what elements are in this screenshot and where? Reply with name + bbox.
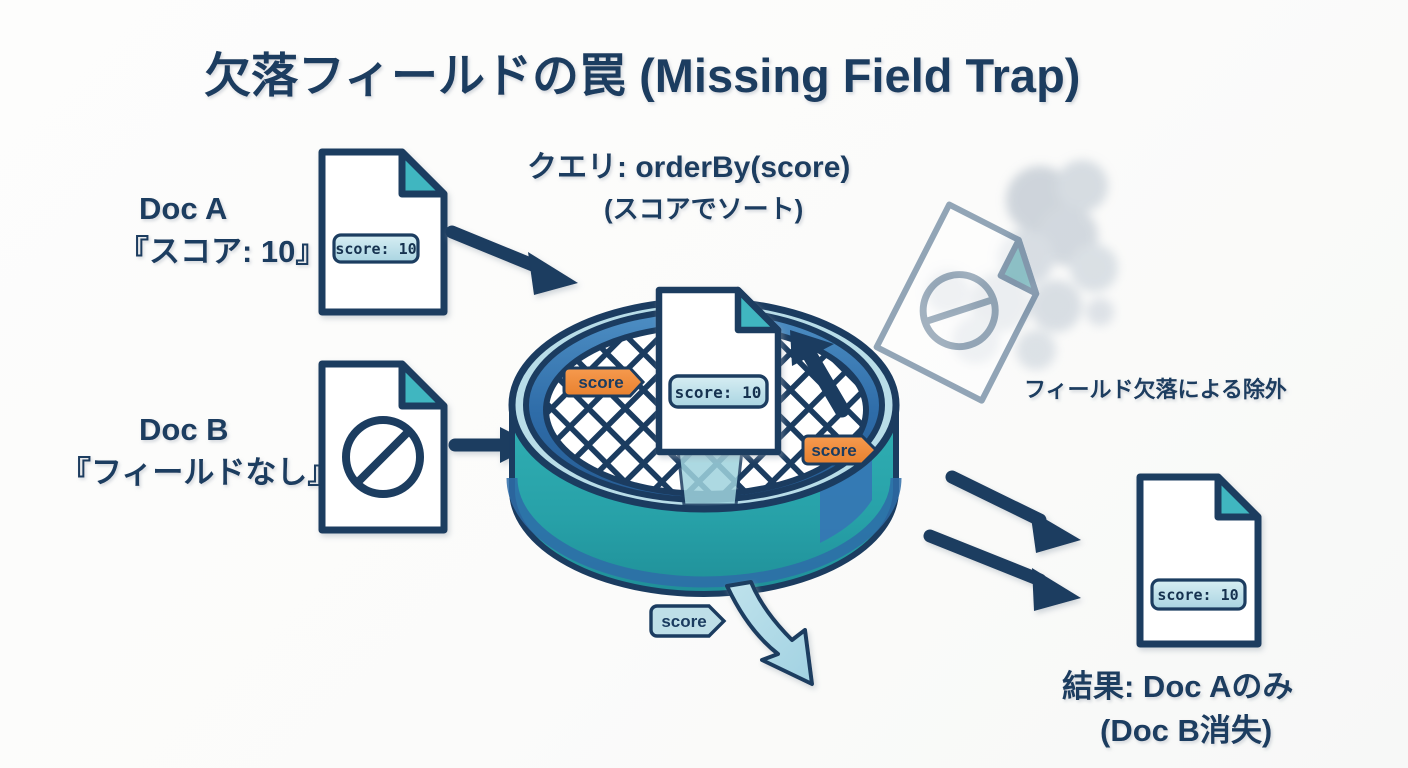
result-doc-badge: score: 10 [1152, 580, 1245, 609]
score-tag-left-text: score [578, 373, 623, 392]
sieve-inner-doc-badge: score: 10 [670, 376, 767, 407]
page-title: 欠落フィールドの罠 (Missing Field Trap) [204, 49, 1080, 102]
arrow-result-top [952, 477, 1081, 553]
doc-a-score-badge: score: 10 [334, 235, 418, 262]
query-line1: クエリ: orderBy(score) [527, 151, 850, 184]
doc-a-badge-text: score: 10 [335, 240, 416, 258]
score-tag-right: score [803, 436, 876, 464]
result-caption-line1: 結果: Doc Aのみ [1062, 669, 1293, 704]
doc-b-icon[interactable] [322, 364, 444, 530]
score-tag-bottom-text: score [661, 612, 706, 631]
score-tag-bottom: score [651, 606, 724, 636]
doc-a-icon[interactable]: score: 10 [322, 152, 444, 312]
arrow-doc-a-to-sieve [452, 232, 578, 295]
result-caption: 結果: Doc Aのみ (Doc B消失) [1062, 669, 1293, 748]
result-caption-line2: (Doc B消失) [1100, 713, 1272, 748]
query-line2: (スコアでソート) [604, 194, 803, 224]
score-tag-left: score [564, 368, 643, 396]
diagram-canvas: 欠落フィールドの罠 (Missing Field Trap) Doc A 『スコ… [0, 0, 1408, 768]
sieve-inner-doc-badge-text: score: 10 [675, 383, 762, 402]
arrow-score-flow-down [727, 582, 812, 684]
diagram-svg: 欠落フィールドの罠 (Missing Field Trap) Doc A 『スコ… [0, 0, 1408, 768]
doc-a-group: Doc A 『スコア: 10』 score: 10 [118, 152, 578, 312]
score-tag-right-text: score [811, 441, 856, 460]
sieve-inner-doc: score: 10 [659, 290, 778, 452]
query-label: クエリ: orderBy(score) (スコアでソート) [527, 151, 850, 224]
doc-b-group: Doc B 『フィールドなし』 [60, 364, 536, 530]
doc-a-label-line2: 『スコア: 10』 [118, 234, 326, 269]
doc-b-label-line2: 『フィールドなし』 [60, 455, 338, 490]
result-doc[interactable]: score: 10 [1140, 477, 1258, 644]
rejection-note: フィールド欠落による除外 [1024, 377, 1287, 402]
result-doc-badge-text: score: 10 [1157, 586, 1238, 604]
arrow-result-bottom [930, 536, 1081, 611]
doc-b-label-line1: Doc B [139, 412, 229, 447]
doc-a-label-line1: Doc A [139, 191, 227, 226]
index-sieve[interactable]: score: 10 score score [512, 290, 896, 594]
